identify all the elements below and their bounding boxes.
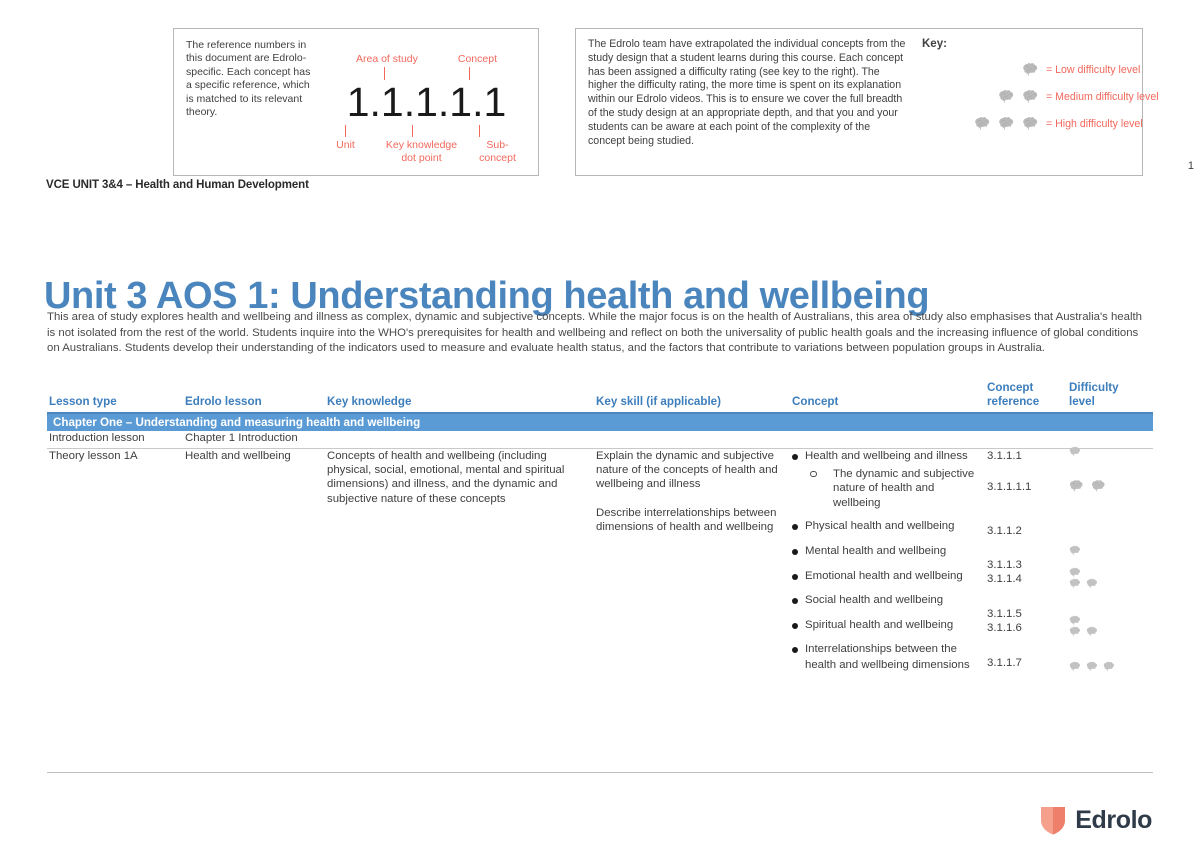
brain-icon <box>998 89 1016 104</box>
concept-label: Health and wellbeing and illness <box>805 450 968 462</box>
list-item: Spiritual health and wellbeing <box>792 618 977 634</box>
key-row-medium: = Medium difficulty level <box>922 89 1159 104</box>
table-header-row: Lesson type Edrolo lesson Key knowledge … <box>47 376 1153 412</box>
brain-icon <box>1069 545 1082 556</box>
list-item: Physical health and wellbeing <box>792 519 977 535</box>
key-label-medium: = Medium difficulty level <box>1046 91 1159 103</box>
difficulty-rating <box>1069 661 1116 672</box>
chapter-band: Chapter One – Understanding and measurin… <box>47 414 1153 431</box>
list-item: Social health and wellbeing <box>792 593 977 609</box>
difficulty-rating <box>1069 479 1109 494</box>
cell-lesson-type: Introduction lesson <box>49 432 145 444</box>
label-area-of-study: Area of study <box>356 53 418 65</box>
table-row: Introduction lesson Chapter 1 Introducti… <box>47 432 1153 449</box>
cell-edrolo-lesson: Chapter 1 Introduction <box>185 432 298 444</box>
key-label-high: = High difficulty level <box>1046 118 1143 130</box>
list-item: Health and wellbeing and illness The dyn… <box>792 449 977 510</box>
brain-icon <box>1022 62 1040 77</box>
table-bottom-rule <box>47 772 1153 773</box>
brain-icon <box>1069 626 1082 637</box>
brain-icon <box>1086 661 1099 672</box>
key-skill-item: Describe interrelationships between dime… <box>596 506 781 534</box>
brain-icon <box>1103 661 1116 672</box>
difficulty-rating <box>1069 446 1082 457</box>
cell-key-skill: Explain the dynamic and subjective natur… <box>596 449 781 548</box>
page-number: 1 <box>1188 160 1194 172</box>
document-header: VCE UNIT 3&4 – Health and Human Developm… <box>46 179 309 191</box>
reference-box-description: The reference numbers in this document a… <box>186 39 311 165</box>
table-row: Theory lesson 1A Health and wellbeing Co… <box>47 449 1153 750</box>
column-header-key-skill: Key skill (if applicable) <box>596 395 721 409</box>
logo-wordmark: Edrolo <box>1075 806 1152 835</box>
sub-concept-list: The dynamic and subjective nature of hea… <box>805 467 977 511</box>
concept-reference: 3.1.1.5 <box>987 607 1022 621</box>
column-header-edrolo-lesson: Edrolo lesson <box>185 395 262 409</box>
cell-edrolo-lesson: Health and wellbeing <box>185 449 325 463</box>
difficulty-rating <box>1069 545 1082 556</box>
brain-icon <box>1069 661 1082 672</box>
concept-list: Health and wellbeing and illness The dyn… <box>792 449 977 674</box>
difficulty-key-box: The Edrolo team have extrapolated the in… <box>575 28 1143 176</box>
list-item: Mental health and wellbeing <box>792 544 977 560</box>
list-item: Emotional health and wellbeing <box>792 569 977 585</box>
curriculum-table: Lesson type Edrolo lesson Key knowledge … <box>47 376 1153 412</box>
key-skill-item: Explain the dynamic and subjective natur… <box>596 449 781 492</box>
brain-icon <box>1069 578 1082 589</box>
brain-icon <box>1022 116 1040 131</box>
cell-concept: Health and wellbeing and illness The dyn… <box>792 449 977 683</box>
example-reference-number: 1.1.1.1.1 <box>327 80 526 124</box>
column-header-concept: Concept <box>792 395 838 409</box>
column-header-lesson-type: Lesson type <box>49 395 117 409</box>
chapter-band-label: Chapter One – Understanding and measurin… <box>47 414 1153 431</box>
key-row-high: = High difficulty level <box>922 116 1159 131</box>
list-item: The dynamic and subjective nature of hea… <box>805 467 977 511</box>
difficulty-rating <box>1069 578 1099 589</box>
concept-reference: 3.1.1.2 <box>987 524 1022 538</box>
key-box-title: Key: <box>922 38 1159 50</box>
key-row-low: = Low difficulty level <box>922 62 1159 77</box>
brain-icon <box>1069 615 1082 626</box>
brain-icon <box>974 116 992 131</box>
label-sub-concept: Sub-concept <box>478 139 518 164</box>
brain-group-medium <box>922 89 1040 104</box>
column-header-key-knowledge: Key knowledge <box>327 395 411 409</box>
difficulty-rating <box>1069 615 1082 626</box>
key-label-low: = Low difficulty level <box>1046 64 1140 76</box>
brain-icon <box>1086 626 1099 637</box>
difficulty-rating <box>1069 567 1082 578</box>
brain-icon <box>1086 578 1099 589</box>
concept-reference: 3.1.1.3 <box>987 558 1022 572</box>
concept-reference: 3.1.1.1.1 <box>987 480 1031 494</box>
list-item: Interrelationships between the health an… <box>792 642 977 673</box>
intro-paragraph: This area of study explores health and w… <box>47 310 1152 356</box>
brain-icon <box>1069 446 1082 457</box>
reference-info-box: The reference numbers in this document a… <box>173 28 539 176</box>
concept-reference: 3.1.1.7 <box>987 656 1022 670</box>
key-box-description: The Edrolo team have extrapolated the in… <box>588 38 908 166</box>
concept-reference: 3.1.1.6 <box>987 621 1022 635</box>
document-page: The reference numbers in this document a… <box>0 0 1200 849</box>
difficulty-rating <box>1069 626 1099 637</box>
brain-icon <box>1069 567 1082 578</box>
cell-lesson-type: Theory lesson 1A <box>49 449 179 463</box>
label-key-knowledge-dot-point: Key knowledge dot point <box>386 139 458 164</box>
cell-key-knowledge: Concepts of health and wellbeing (includ… <box>327 449 582 506</box>
brain-group-high <box>922 116 1040 131</box>
concept-reference: 3.1.1.4 <box>987 572 1022 586</box>
brain-icon <box>1091 479 1109 494</box>
brain-group-low <box>922 62 1040 77</box>
label-unit: Unit <box>326 139 366 164</box>
shield-icon <box>1040 805 1066 835</box>
tick-marks-bottom <box>299 125 526 137</box>
column-header-difficulty-level: Difficulty level <box>1069 381 1139 408</box>
column-header-concept-reference: Concept reference <box>987 381 1057 408</box>
brain-icon <box>1069 479 1087 494</box>
reference-number-diagram: Area of study Concept 1.1.1.1.1 Unit Key… <box>327 39 526 165</box>
brain-icon <box>1022 89 1040 104</box>
brain-icon <box>998 116 1016 131</box>
edrolo-logo: Edrolo <box>1040 805 1152 835</box>
concept-reference: 3.1.1.1 <box>987 449 1022 463</box>
label-concept: Concept <box>458 53 497 65</box>
